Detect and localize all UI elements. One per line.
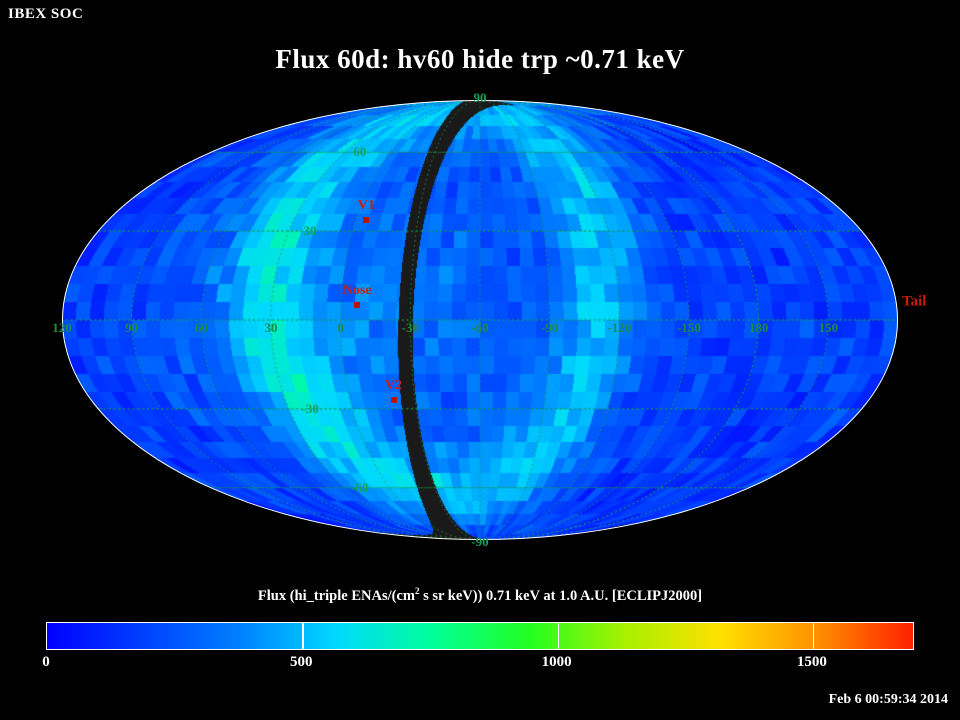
marker-label-nose: Nose bbox=[343, 283, 372, 299]
sky-map: 60300-30-60-90-120-15018015012090906030-… bbox=[62, 100, 898, 540]
latitude-grid-label: 30 bbox=[304, 223, 317, 239]
longitude-grid-label: 30 bbox=[265, 320, 278, 336]
marker-label-v1: V1 bbox=[358, 198, 375, 214]
longitude-grid-label: 150 bbox=[819, 320, 839, 336]
latitude-grid-label: -60 bbox=[351, 480, 368, 496]
longitude-grid-label: -120 bbox=[607, 320, 631, 336]
colorbar-caption-pre: Flux (hi_triple ENAs/(cm bbox=[258, 588, 415, 604]
longitude-grid-label: 60 bbox=[195, 320, 208, 336]
longitude-grid-label: -60 bbox=[471, 320, 488, 336]
marker-dot-v2 bbox=[391, 397, 397, 403]
latitude-grid-label: -90 bbox=[471, 534, 488, 550]
timestamp: Feb 6 00:59:34 2014 bbox=[829, 692, 948, 708]
colorbar-caption: Flux (hi_triple ENAs/(cm2 s sr keV)) 0.7… bbox=[0, 586, 960, 605]
longitude-grid-label: -90 bbox=[541, 320, 558, 336]
colorbar-tickmark bbox=[813, 623, 815, 649]
marker-dot-nose bbox=[354, 302, 360, 308]
latitude-grid-label: -30 bbox=[301, 401, 318, 417]
marker-label-v2: V2 bbox=[385, 378, 402, 394]
plot-canvas: IBEX SOC Flux 60d: hv60 hide trp ~0.71 k… bbox=[0, 0, 960, 720]
longitude-grid-label: -30 bbox=[402, 320, 419, 336]
marker-dot-v1 bbox=[363, 217, 369, 223]
longitude-grid-label: 120 bbox=[52, 320, 72, 336]
page-title: Flux 60d: hv60 hide trp ~0.71 keV bbox=[0, 44, 960, 75]
latitude-grid-label: 90 bbox=[474, 90, 487, 106]
colorbar-tick-label: 0 bbox=[42, 654, 50, 671]
colorbar-tick-label: 1000 bbox=[542, 654, 572, 671]
colorbar-gradient bbox=[47, 623, 913, 649]
colorbar-tickmark bbox=[302, 623, 304, 649]
colorbar-tickmark bbox=[558, 623, 560, 649]
marker-label-tail: Tail bbox=[902, 294, 926, 311]
ibex-soc-label: IBEX SOC bbox=[8, 6, 83, 23]
colorbar bbox=[46, 622, 914, 650]
longitude-grid-label: 90 bbox=[125, 320, 138, 336]
colorbar-tick-label: 500 bbox=[290, 654, 313, 671]
longitude-grid-label: -150 bbox=[677, 320, 701, 336]
colorbar-caption-post: s sr keV)) 0.71 keV at 1.0 A.U. [ECLIPJ2… bbox=[419, 588, 702, 604]
longitude-grid-label: 180 bbox=[749, 320, 769, 336]
latitude-grid-label: 60 bbox=[353, 144, 366, 160]
colorbar-tick-label: 1500 bbox=[797, 654, 827, 671]
longitude-grid-label: 0 bbox=[337, 320, 344, 336]
